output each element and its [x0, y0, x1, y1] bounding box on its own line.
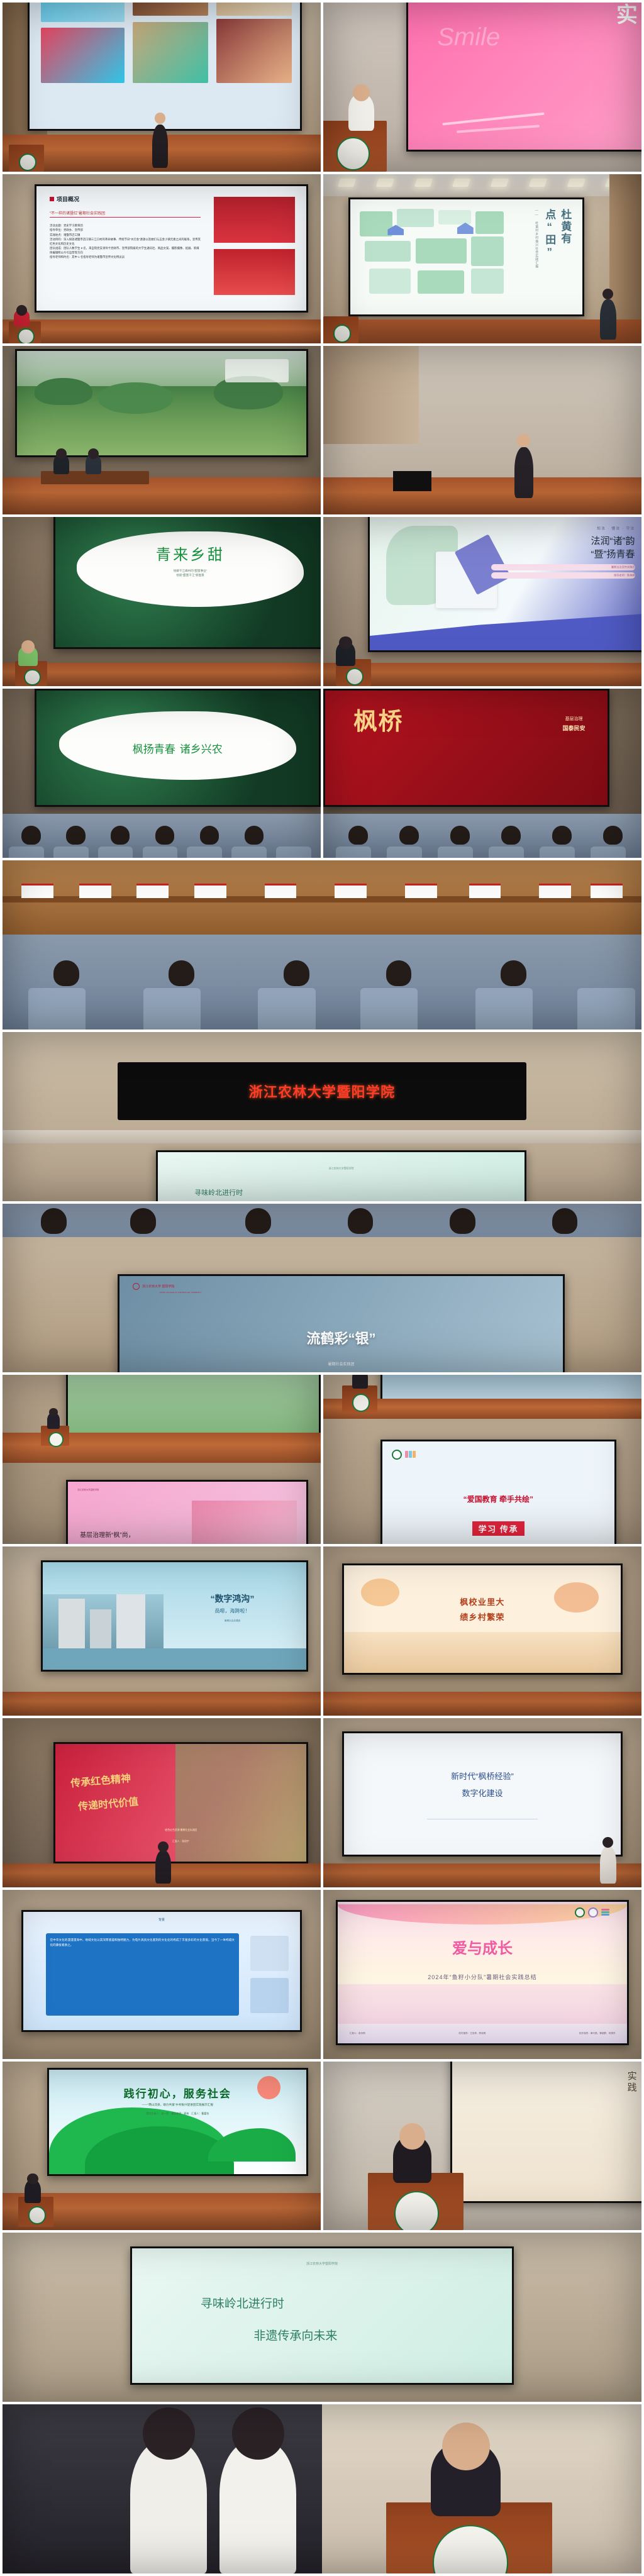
slide-fengqiao-red: 枫桥 基层治理 国泰民安: [325, 691, 608, 805]
slide-aiyu-chengzhang: 爱与成长 2024年“鱼籽小分队”暑期社会实践总结 汇报人：俞孙杨 校内指导：王…: [338, 1902, 627, 2043]
slide-title-2: 绩乡村繁荣: [344, 1611, 620, 1623]
slide-heading: 项目概况: [57, 195, 79, 203]
slide-jiceng-fengshang: 浙江农林大学暨阳学院 基层治理新“枫”尚， 探索“枫桥经验”城市版: [68, 1482, 306, 1544]
slide-title-1: 基层治理新“枫”尚，: [80, 1529, 135, 1539]
speaker-figure: [514, 447, 533, 498]
panelist-right: [86, 454, 101, 474]
slide-footer: 项目负责人：毛一伊 指导老师：郭琦 汇报人：曹嘉怡: [49, 2112, 306, 2116]
slide-eyebrow: 浙江农林大学暨阳学院: [132, 2262, 512, 2266]
photo-cell-p07[interactable]: 青来乡甜 绘解千江峰村的“甜蜜事业” 绘就“甜蜜千江”新图景: [3, 517, 321, 686]
audience-seating: [3, 935, 641, 1030]
slide-subtitle: 咼嗯，海跨啦！: [174, 1607, 290, 1614]
slide-title-2: 非遗传承向未来: [253, 2326, 337, 2343]
slide-xunwei-lingbei-full: 浙江农林大学暨阳学院 寻味岭北进行时 非遗传承向未来: [132, 2248, 512, 2383]
speaker-figure: [47, 1413, 60, 1430]
speaker-figure: [348, 94, 374, 131]
slide-title-2: 国泰民安: [562, 724, 585, 732]
slide-jianxing-chuxin: 践行初心，服务社会 ——“两山流泉，助力共富”乡村振兴促进团实践展示汇报 项目负…: [49, 2070, 306, 2174]
speaker-figure: [152, 125, 168, 169]
slide-brand: 浙江农林大学 暨阳学院: [142, 1284, 174, 1289]
audience-seating: [323, 814, 641, 858]
speaker-figure: [600, 1846, 616, 1884]
slide-shuzi-honggou: “数字鸿沟” 咼嗯，海跨啦！ 暑期社会实践团: [43, 1562, 306, 1670]
university-emblem-icon: [133, 1283, 140, 1290]
panel-desk-row: [3, 860, 641, 938]
ribbon-logo-icon: [601, 1909, 609, 1916]
slide-eyebrow: 知法 · 懂法 · 守法: [491, 526, 635, 531]
photo-cell-p24[interactable]: 实践: [323, 2062, 641, 2231]
photo-cell-p18[interactable]: 枫校业里大 绩乡村繁荣: [323, 1546, 641, 1716]
photo-cell-p03[interactable]: 项目概况 “不一样的诸暨红”暑期社会实践团 活动主题：党史学习教育团 指导单位：…: [3, 174, 321, 343]
slide-subtitle: 2024年“鱼籽小分队”暑期社会实践总结: [338, 1973, 627, 1981]
photo-cell-p02[interactable]: 实 Smile: [323, 3, 641, 172]
group-photo-1: [213, 196, 296, 243]
photo-cell-p13[interactable]: 浙江农林大学暨阳学院 寻味岭北进行时 非遗传承向未来: [3, 2233, 641, 2402]
speaker-figure: [352, 1375, 368, 1389]
photo-cell-p15[interactable]: 浙江农林大学暨阳学院 基层治理新“枫”尚， 探索“枫桥经验”城市版: [3, 1375, 321, 1544]
slide-fengye-xiangcun: 枫校业里大 绩乡村繁荣: [344, 1565, 620, 1673]
speaker-figure: [336, 642, 355, 666]
photo-cell-p09[interactable]: 枫扬青春 诸乡兴农: [3, 689, 321, 858]
slide-title: 实: [616, 3, 638, 28]
name-card: [21, 884, 53, 898]
photo-cell-p22[interactable]: 爱与成长 2024年“鱼籽小分队”暑期社会实践总结 汇报人：俞孙杨 校内指导：王…: [323, 1890, 641, 2059]
slide-project-overview: 项目概况 “不一样的诸暨红”暑期社会实践团 活动主题：党史学习教育团 指导单位：…: [36, 186, 306, 311]
slide-body: 活动主题：党史学习教育团 指导单位：党政办、宣传部 实践地点：诸暨市店口镇 活动…: [50, 223, 201, 258]
slide-script: Smile: [437, 23, 500, 52]
photo-cell-p10[interactable]: 枫桥 基层治理 国泰民安: [323, 689, 641, 858]
photo-cell-p25[interactable]: [3, 2404, 641, 2573]
photo-collage-page: 非遗手工艺图片拼贴演示 实 Smile: [0, 0, 644, 2576]
slide-title: 杜黄有点“田”: [541, 209, 573, 289]
slide-paragraph: 在中华文化的漫漫漫海中，地域文化以其深厚底蕴和独特魅力，为电片具具文化底刻的文化…: [50, 1938, 235, 1948]
photo-cell-p08[interactable]: 知法 · 懂法 · 守法 法润“诸”韵 “暨”扬青春 暑期法治宣传实践团 指导老…: [323, 517, 641, 686]
slide-title-1: 枫扬青春: [133, 740, 175, 756]
photo-cell-p04[interactable]: —— 杜黄村乡村振兴社会实践汇报 杜黄有点“田”: [323, 174, 641, 343]
slide-fengyang-qingchun: 枫扬青春 诸乡兴农: [36, 691, 319, 805]
slide-subtitle: “趋色红色资源”暑期社会实践团: [55, 1829, 306, 1832]
led-banner: 浙江农林大学暨阳学院: [118, 1062, 526, 1119]
speaker-figure: [14, 309, 30, 326]
slide-title: 爱与成长: [338, 1936, 627, 1958]
slide-pill-1: 暑期法治宣传实践团: [491, 564, 635, 570]
speaker-figure: [393, 2136, 431, 2183]
speaker-figure: [155, 1850, 171, 1884]
slide-title-1: 法润“诸”韵: [491, 534, 635, 547]
student-right: [219, 2441, 296, 2573]
slide-qinglai-xiangtian: 青来乡甜 绘解千江峰村的“甜蜜事业” 绘就“甜蜜千江”新图景: [55, 517, 321, 647]
slide-title-2: 数字化建设: [344, 1787, 620, 1799]
slide-brand: 浙江农林大学暨阳学院: [77, 1488, 99, 1491]
slide-portrait-background: 实践: [452, 2062, 641, 2202]
slide-title-1: 寻味岭北进行时: [194, 1187, 243, 1197]
speaker-figure: [25, 2180, 40, 2204]
slide-title-2: 传递时代价值: [77, 1793, 139, 1813]
photo-grid: 非遗手工艺图片拼贴演示 实 Smile: [0, 0, 644, 2576]
panelist-left: [53, 454, 69, 474]
slide-farun-zhuyun: 知法 · 懂法 · 守法 法润“诸”韵 “暨”扬青春 暑期法治宣传实践团 指导老…: [370, 517, 641, 650]
photo-cell-p05[interactable]: [3, 346, 321, 515]
slide-title-1: 新时代“枫桥经验”: [344, 1770, 620, 1782]
partner-emblem-icon: [588, 1907, 598, 1918]
slide-subtitle: —— 杜黄村乡村振兴社会实践汇报: [535, 209, 539, 269]
photo-cell-p12[interactable]: 浙江农林大学暨阳学院 浙江农林大学暨阳学院 寻味岭北进行时 非遗传承向未来: [3, 1032, 641, 1201]
photo-cell-p16[interactable]: “爱国教育 牵手共绘” 学习 传承 实践团名称：“爱国教育 牵手共绘”实践团 汇…: [323, 1375, 641, 1544]
photo-cell-p06[interactable]: [323, 346, 641, 515]
slide-aiguo-jiaoyu: “爱国教育 牵手共绘” 学习 传承 实践团名称：“爱国教育 牵手共绘”实践团 汇…: [382, 1441, 614, 1545]
photo-cell-p11[interactable]: [3, 860, 641, 1030]
photo-cell-p14[interactable]: 浙江农林大学 暨阳学院 JIYANG COLLEGE OF ZHEJIANG A…: [3, 1204, 641, 1373]
audience-seating: [3, 814, 321, 858]
photo-cell-p21[interactable]: 背景 在中华文化的漫漫漫海中，地域文化以其深厚底蕴和独特魅力，为电片具具文化底刻…: [3, 1890, 321, 2059]
slide-footer: 暑期社会实践团: [174, 1619, 290, 1623]
speaker-box: [393, 471, 431, 491]
speaker-figure: [18, 646, 37, 666]
slide-pill-2: 指导老师：陈海娟: [491, 572, 635, 579]
speaker-figure: [600, 299, 616, 340]
slide-band: 学习 传承: [472, 1521, 525, 1536]
photo-cell-p23[interactable]: 践行初心，服务社会 ——“两山流泉，助力共富”乡村振兴促进团实践展示汇报 项目负…: [3, 2062, 321, 2231]
photo-cell-p01[interactable]: 非遗手工艺图片拼贴演示: [3, 3, 321, 172]
slide-subtitle: ——“两山流泉，助力共富”乡村振兴促进团实践展示汇报: [49, 2103, 306, 2107]
slide-handicraft-collage: [30, 3, 299, 129]
slide-big-word: 枫桥: [353, 702, 403, 736]
slide-subtitle: 暑期社会实践团: [119, 1361, 563, 1367]
slide-eyebrow: 浙江农林大学暨阳学院: [158, 1167, 525, 1170]
photo-cell-p17[interactable]: “数字鸿沟” 咼嗯，海跨啦！ 暑期社会实践团: [3, 1546, 321, 1716]
slide-brand-en: JIYANG COLLEGE OF ZHEJIANG A&F UNIVERSIT…: [159, 1292, 201, 1294]
led-banner-text: 浙江农林大学暨阳学院: [249, 1081, 396, 1101]
slide-duhuang-field: —— 杜黄村乡村振兴社会实践汇报 杜黄有点“田”: [350, 199, 582, 314]
slide-title: “数字鸿沟”: [174, 1592, 290, 1605]
slide-title-2: “暨”扬青春: [491, 547, 635, 560]
slide-title: 实践: [625, 2071, 638, 2094]
slide-title: 践行初心，服务社会: [49, 2085, 306, 2101]
slide-chuancheng-hongse: 传承红色精神 传递时代价值 “趋色红色资源”暑期社会实践团 汇报人：陈翔宇: [55, 1744, 306, 1862]
speaker-figure: [431, 2441, 501, 2516]
slide-title-1: 传承红色精神: [70, 1769, 131, 1789]
slide-xunwei-lingbei: 浙江农林大学暨阳学院 寻味岭北进行时 非遗传承向未来: [158, 1152, 525, 1201]
slide-title: 流鹤彩“银”: [119, 1328, 563, 1348]
photo-cell-p19[interactable]: 传承红色精神 传递时代价值 “趋色红色资源”暑期社会实践团 汇报人：陈翔宇: [3, 1718, 321, 1887]
photo-cell-p20[interactable]: 新时代“枫桥经验” 数字化建设: [323, 1718, 641, 1887]
student-left: [130, 2441, 207, 2573]
slide-title-1: 基层治理: [562, 716, 585, 722]
slide-liuhe-silver: 浙江农林大学 暨阳学院 JIYANG COLLEGE OF ZHEJIANG A…: [119, 1276, 563, 1372]
slide-xinshidai-fengqiao: 新时代“枫桥经验” 数字化建设: [344, 1733, 620, 1855]
slide-heading: 背景: [23, 1918, 299, 1922]
bullet-marker: [50, 197, 54, 201]
university-emblem-icon: [392, 1450, 402, 1460]
slide-text-paragraph: 背景 在中华文化的漫漫漫海中，地域文化以其深厚底蕴和独特魅力，为电片具具文化底刻…: [23, 1912, 299, 2030]
slide-title: 青来乡甜: [87, 542, 292, 564]
group-photo-2: [213, 248, 296, 296]
slide-title: “爱国教育 牵手共绘”: [382, 1494, 614, 1504]
slide-footer: 汇报人：俞孙杨 校内指导：王忠烨、陈晓明 校外指导：黄巧燕、黎超群、何祺洋: [350, 2032, 616, 2035]
audience-seating: [3, 1204, 641, 1238]
slide-title-1: 寻味岭北进行时: [201, 2294, 284, 2311]
slide-subtitle: 绘解千江峰村的“甜蜜事业” 绘就“甜蜜千江”新图景: [87, 569, 292, 578]
slide-title-1: 枫校业里大: [344, 1596, 620, 1607]
university-emblem-icon: [575, 1907, 585, 1918]
slide-landscape-video: [17, 351, 306, 455]
slide-title-2: 诸乡兴农: [180, 740, 223, 756]
slide-subtitle: “不一样的诸暨红”暑期社会实践团: [50, 210, 105, 216]
slide-pink-smile: 实 Smile: [408, 3, 641, 150]
slide-footer: 汇报人：陈翔宇: [55, 1840, 306, 1843]
